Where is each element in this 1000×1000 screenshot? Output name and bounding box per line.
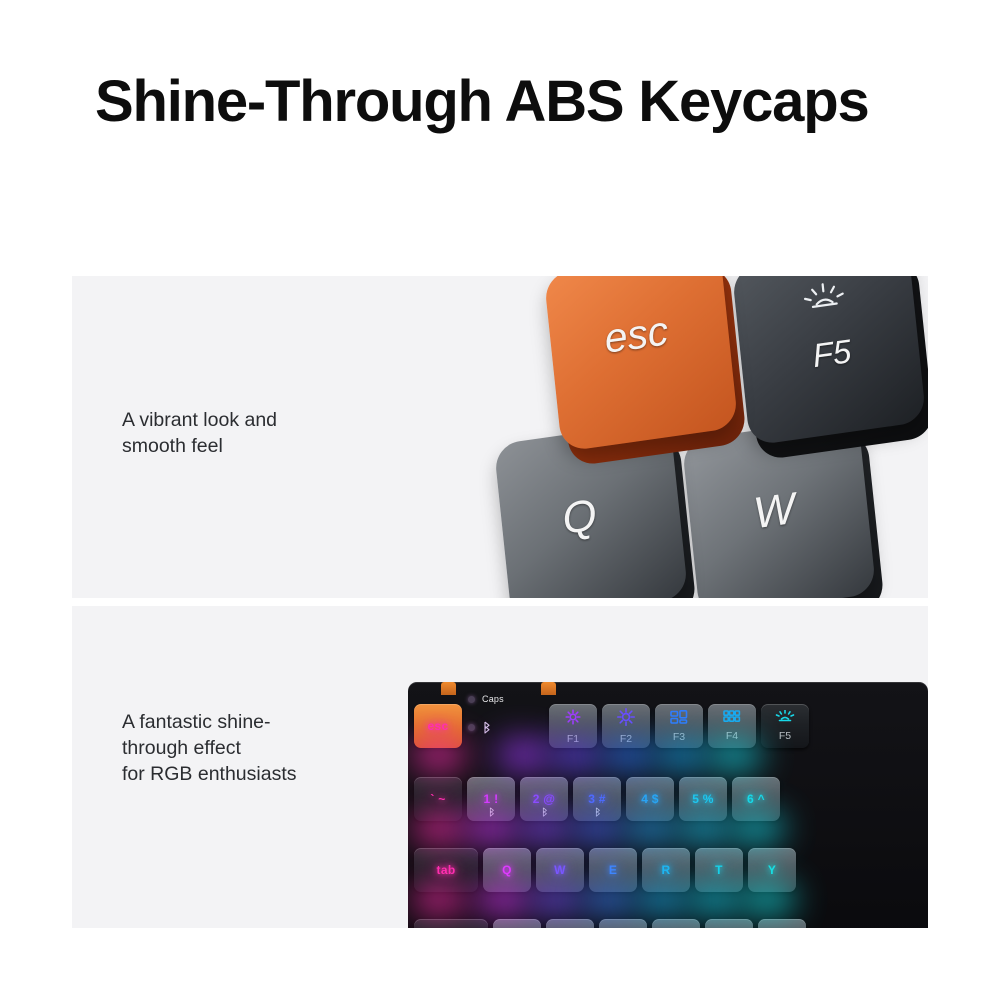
bluetooth-icon: [488, 807, 495, 817]
keycap-q-label: Q: [560, 490, 599, 545]
keyboard-panel: A fantastic shine- through effect for RG…: [72, 606, 928, 928]
key-legend: ` ~: [430, 792, 445, 806]
keyboard-key-1[interactable]: 1 !: [467, 777, 515, 821]
bluetooth-icon: [541, 807, 548, 817]
keyboard-bottom-row-partial: [414, 919, 806, 928]
keyboard-accent-knob-right: [541, 682, 556, 695]
keyboard-key-a[interactable]: [493, 919, 541, 928]
backlight-icon: [775, 710, 795, 723]
key-fn-label: F4: [726, 730, 738, 742]
key-legend: tab: [437, 863, 456, 877]
led-dot-icon: [468, 696, 475, 703]
keyboard-key-tab[interactable]: tab: [414, 848, 478, 892]
keyboard-key-d[interactable]: [599, 919, 647, 928]
launchpad-icon: [723, 710, 741, 723]
keyboard-key-y[interactable]: Y: [748, 848, 796, 892]
keyboard-key-r[interactable]: R: [642, 848, 690, 892]
key-legend: 5 %: [692, 792, 714, 806]
keycap-f5-label: F5: [811, 332, 853, 375]
keyboard-illustration: Caps escF1F2 F3F4: [408, 670, 928, 928]
key-legend: 3 #: [588, 792, 606, 806]
keyboard-key-3[interactable]: 3 #: [573, 777, 621, 821]
key-fn-label: F2: [620, 733, 632, 745]
keyboard-key-f[interactable]: [652, 919, 700, 928]
key-legend: 1 !: [484, 792, 499, 806]
key-legend: W: [554, 863, 566, 877]
keyboard-key-5[interactable]: 5 %: [679, 777, 727, 821]
key-legend: Y: [768, 863, 776, 877]
keycap-w-label: W: [751, 484, 797, 540]
keycap-f5: F5: [732, 276, 927, 446]
keyboard-accent-knob-left: [441, 682, 456, 695]
keyboard-letter-row: tabQWERTY: [414, 848, 796, 892]
key-fn-label: F3: [673, 731, 685, 743]
keyboard-key-6[interactable]: 6 ^: [732, 777, 780, 821]
indicator-caps-label: Caps: [482, 694, 504, 704]
keyboard-key-h[interactable]: [758, 919, 806, 928]
key-legend: T: [715, 863, 723, 877]
keyboard-key-2[interactable]: 2 @: [520, 777, 568, 821]
keyboard-key-q[interactable]: Q: [483, 848, 531, 892]
key-fn-label: F1: [567, 733, 579, 745]
page-title: Shine-Through ABS Keycaps: [95, 68, 869, 135]
key-legend: Q: [502, 863, 512, 877]
keyboard-function-row: escF1F2 F3F4 F5: [414, 704, 809, 748]
mission-control-icon: [670, 710, 688, 724]
keyboard-key-e[interactable]: E: [589, 848, 637, 892]
keyboard-key-tilde[interactable]: ` ~: [414, 777, 462, 821]
keyboard-key-f3[interactable]: F3: [655, 704, 703, 748]
keyboard-key-4[interactable]: 4 $: [626, 777, 674, 821]
key-legend: esc: [428, 719, 449, 733]
keyboard-key-g[interactable]: [705, 919, 753, 928]
backlight-icon: [799, 279, 850, 316]
keyboard-chassis: Caps escF1F2 F3F4: [408, 682, 928, 928]
keyboard-key-s[interactable]: [546, 919, 594, 928]
keyboard-key-f1[interactable]: F1: [549, 704, 597, 748]
keyboard-key-t[interactable]: T: [695, 848, 743, 892]
key-legend: R: [662, 863, 671, 877]
brightness-up-icon: [617, 708, 635, 726]
keycap-f5-top: F5: [732, 276, 927, 446]
keycaps-panel: A vibrant look and smooth feel esc: [72, 276, 928, 598]
keycap-esc-top: esc: [544, 276, 739, 452]
keycap-esc-label: esc: [602, 307, 670, 363]
keycaps-panel-caption: A vibrant look and smooth feel: [122, 407, 277, 459]
key-legend: 6 ^: [747, 792, 765, 806]
keyboard-panel-caption: A fantastic shine- through effect for RG…: [122, 709, 297, 787]
keyboard-key-f4[interactable]: F4: [708, 704, 756, 748]
key-legend: 4 $: [641, 792, 659, 806]
key-legend: 2 @: [533, 792, 556, 806]
indicator-caps: Caps: [468, 694, 534, 704]
keycaps-illustration: esc: [440, 276, 910, 598]
keyboard-key-f2[interactable]: F2: [602, 704, 650, 748]
keyboard-number-row: ` ~1 !2 @3 #4 $5 %6 ^: [414, 777, 780, 821]
keyboard-key-caps[interactable]: [414, 919, 488, 928]
bluetooth-icon: [594, 807, 601, 817]
keyboard-key-esc[interactable]: esc: [414, 704, 462, 748]
key-fn-label: F5: [779, 730, 791, 742]
keycap-esc: esc: [544, 276, 739, 452]
key-legend: E: [609, 863, 617, 877]
keyboard-key-f5[interactable]: F5: [761, 704, 809, 748]
brightness-down-icon: [564, 708, 582, 726]
keyboard-key-w[interactable]: W: [536, 848, 584, 892]
